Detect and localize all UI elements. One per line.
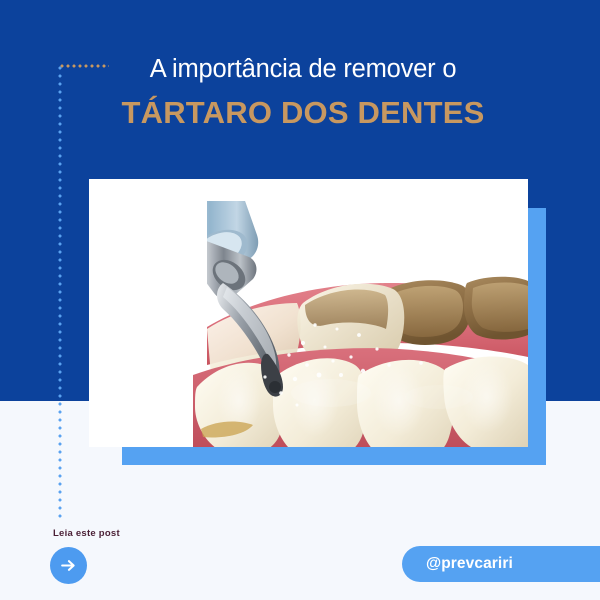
headline-line-1: A importância de remover o [88,52,518,86]
dental-scaler-illustration [89,179,528,447]
photo-stage [89,179,528,447]
dotted-line-vertical [58,64,62,519]
photo-card [89,179,528,447]
accent-bar-right [527,208,546,465]
cta-label: Leia este post [53,528,120,539]
social-handle-text: @prevcariri [426,555,513,573]
arrow-right-icon [59,556,78,575]
read-post-arrow-button[interactable] [50,547,87,584]
headline-line-2: TÁRTARO DOS DENTES [88,92,518,134]
social-handle-pill[interactable]: @prevcariri [402,546,600,582]
poster-canvas: A importância de remover o TÁRTARO DOS D… [0,0,600,600]
headline-block: A importância de remover o TÁRTARO DOS D… [88,52,518,134]
accent-bar-bottom [122,446,546,465]
